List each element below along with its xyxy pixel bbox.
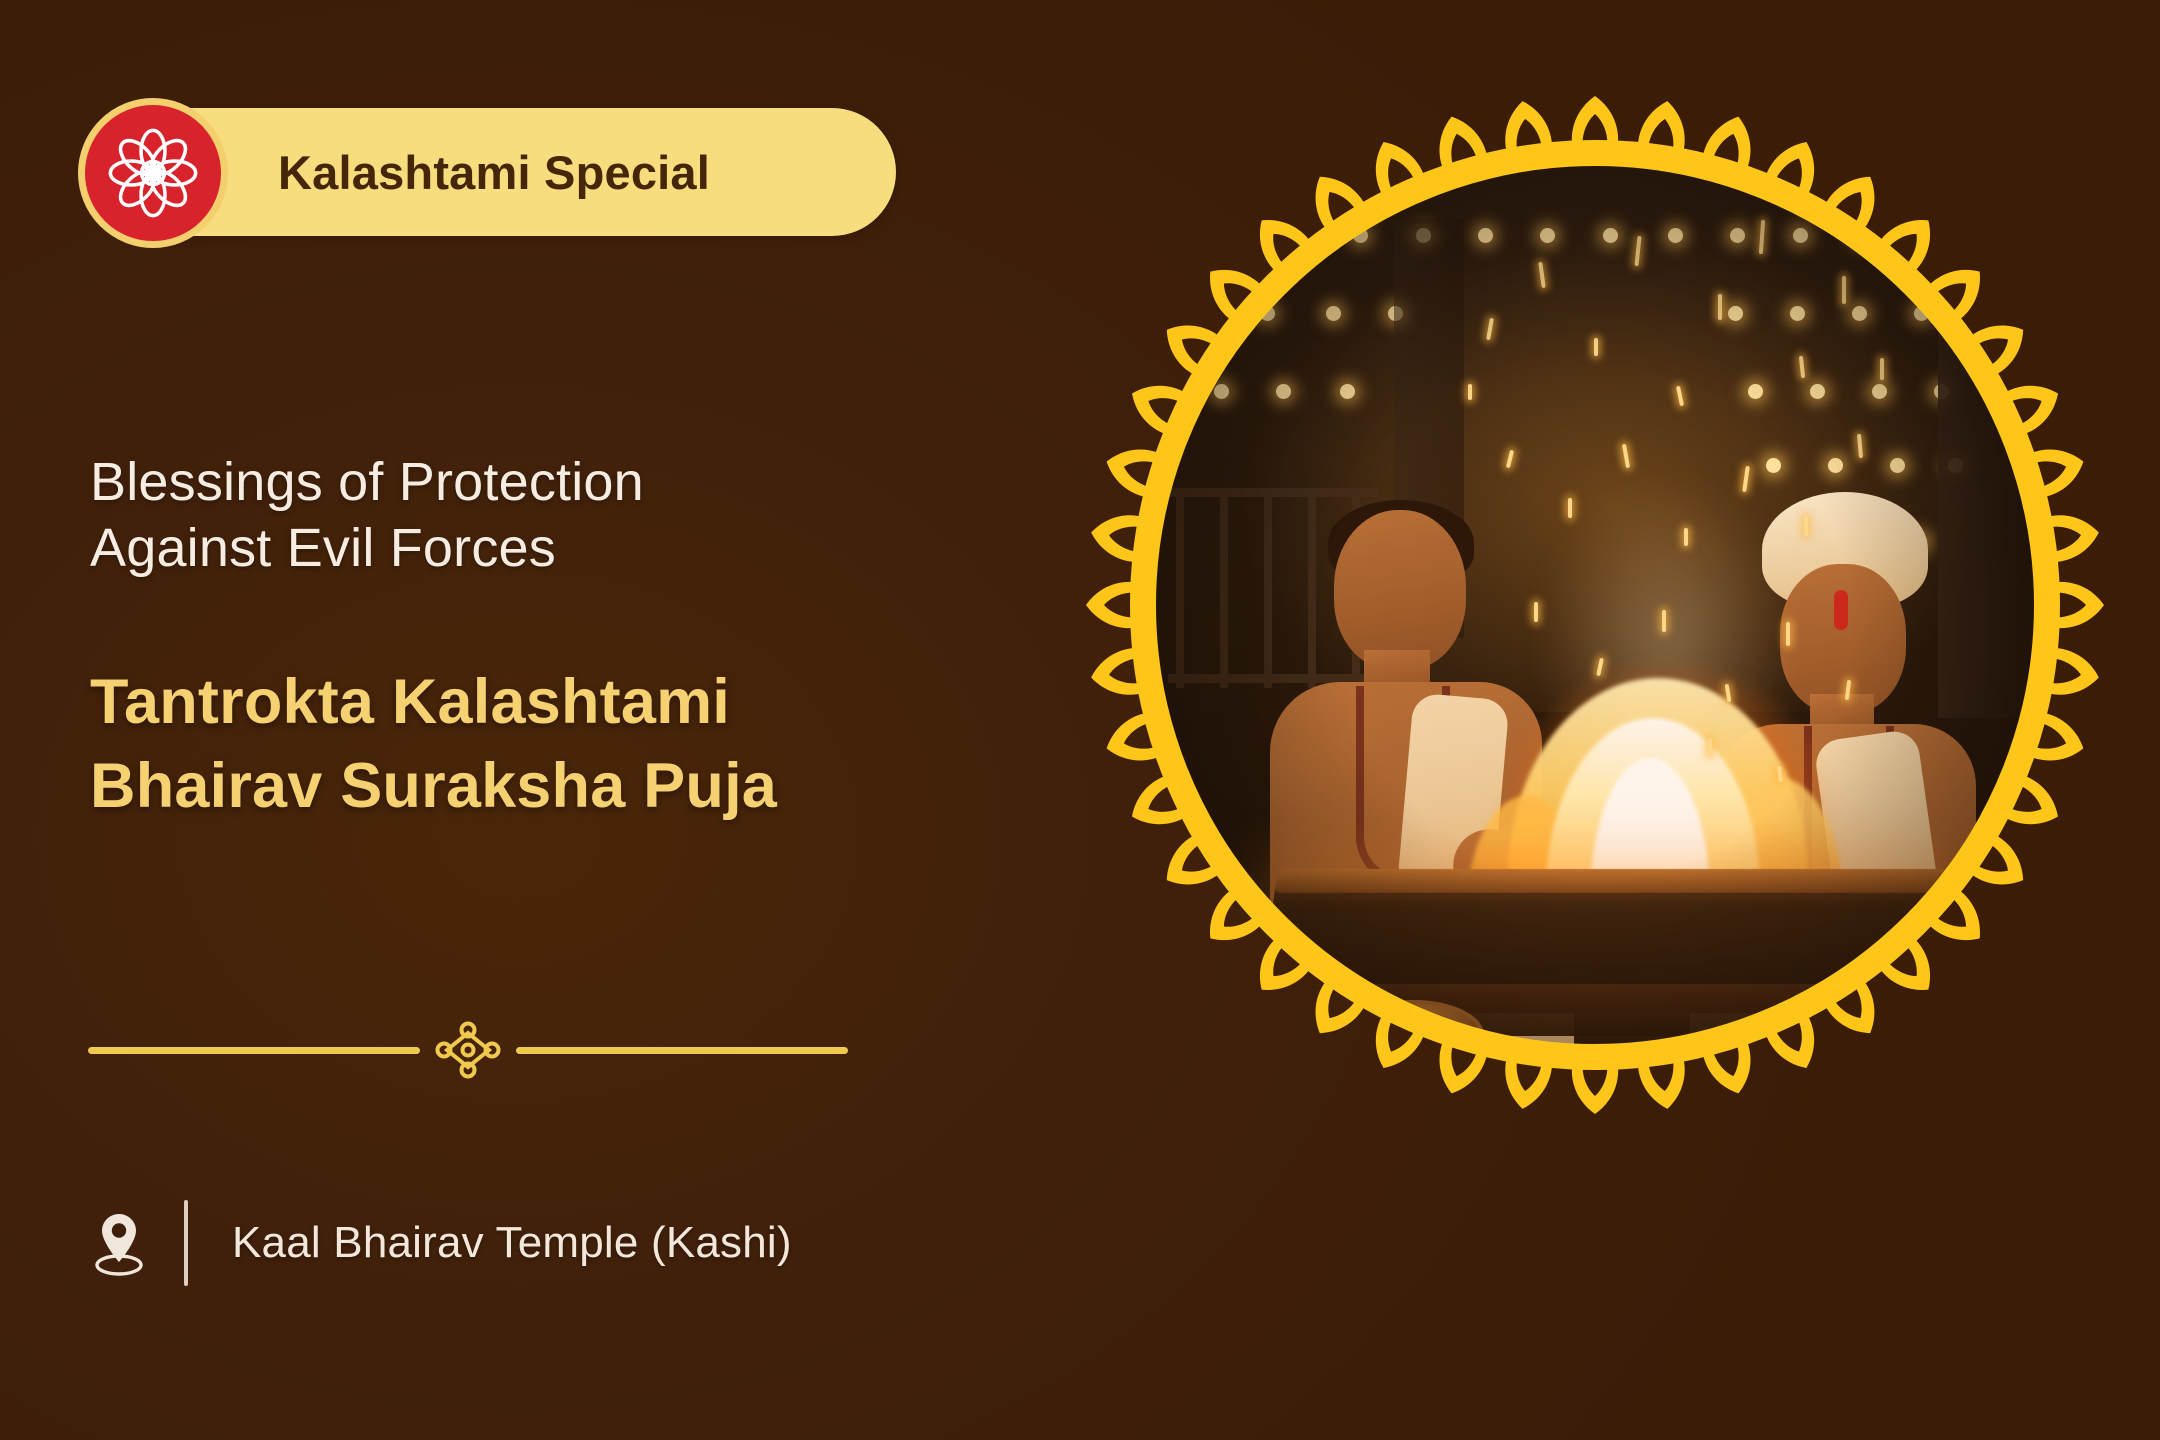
ornamental-divider [88, 1020, 848, 1080]
subtitle-line-1: Blessings of Protection [90, 450, 950, 516]
divider-line-left [88, 1047, 420, 1054]
lotus-mandala-icon [78, 98, 228, 248]
page-title: Tantrokta Kalashtami Bhairav Suraksha Pu… [90, 660, 990, 829]
badge-label: Kalashtami Special [278, 145, 710, 200]
divider-line-right [516, 1047, 848, 1054]
location-row: Kaal Bhairav Temple (Kashi) [88, 1198, 792, 1288]
left-content-column: Kalashtami Special [0, 0, 1020, 1440]
map-pin-icon [88, 1208, 150, 1278]
promo-banner: Kalashtami Special [0, 0, 2160, 1440]
lotus-petal-ring-frame [1060, 70, 2130, 1140]
diamond-ornament-icon [420, 1020, 516, 1080]
banner-subtitle: Blessings of Protection Against Evil For… [90, 450, 950, 582]
subtitle-line-2: Against Evil Forces [90, 516, 950, 582]
location-label: Kaal Bhairav Temple (Kashi) [232, 1218, 792, 1268]
title-line-2: Bhairav Suraksha Puja [90, 744, 990, 828]
title-line-1: Tantrokta Kalashtami [90, 660, 990, 744]
footer-separator [184, 1200, 188, 1286]
ritual-medallion [1060, 70, 2130, 1140]
